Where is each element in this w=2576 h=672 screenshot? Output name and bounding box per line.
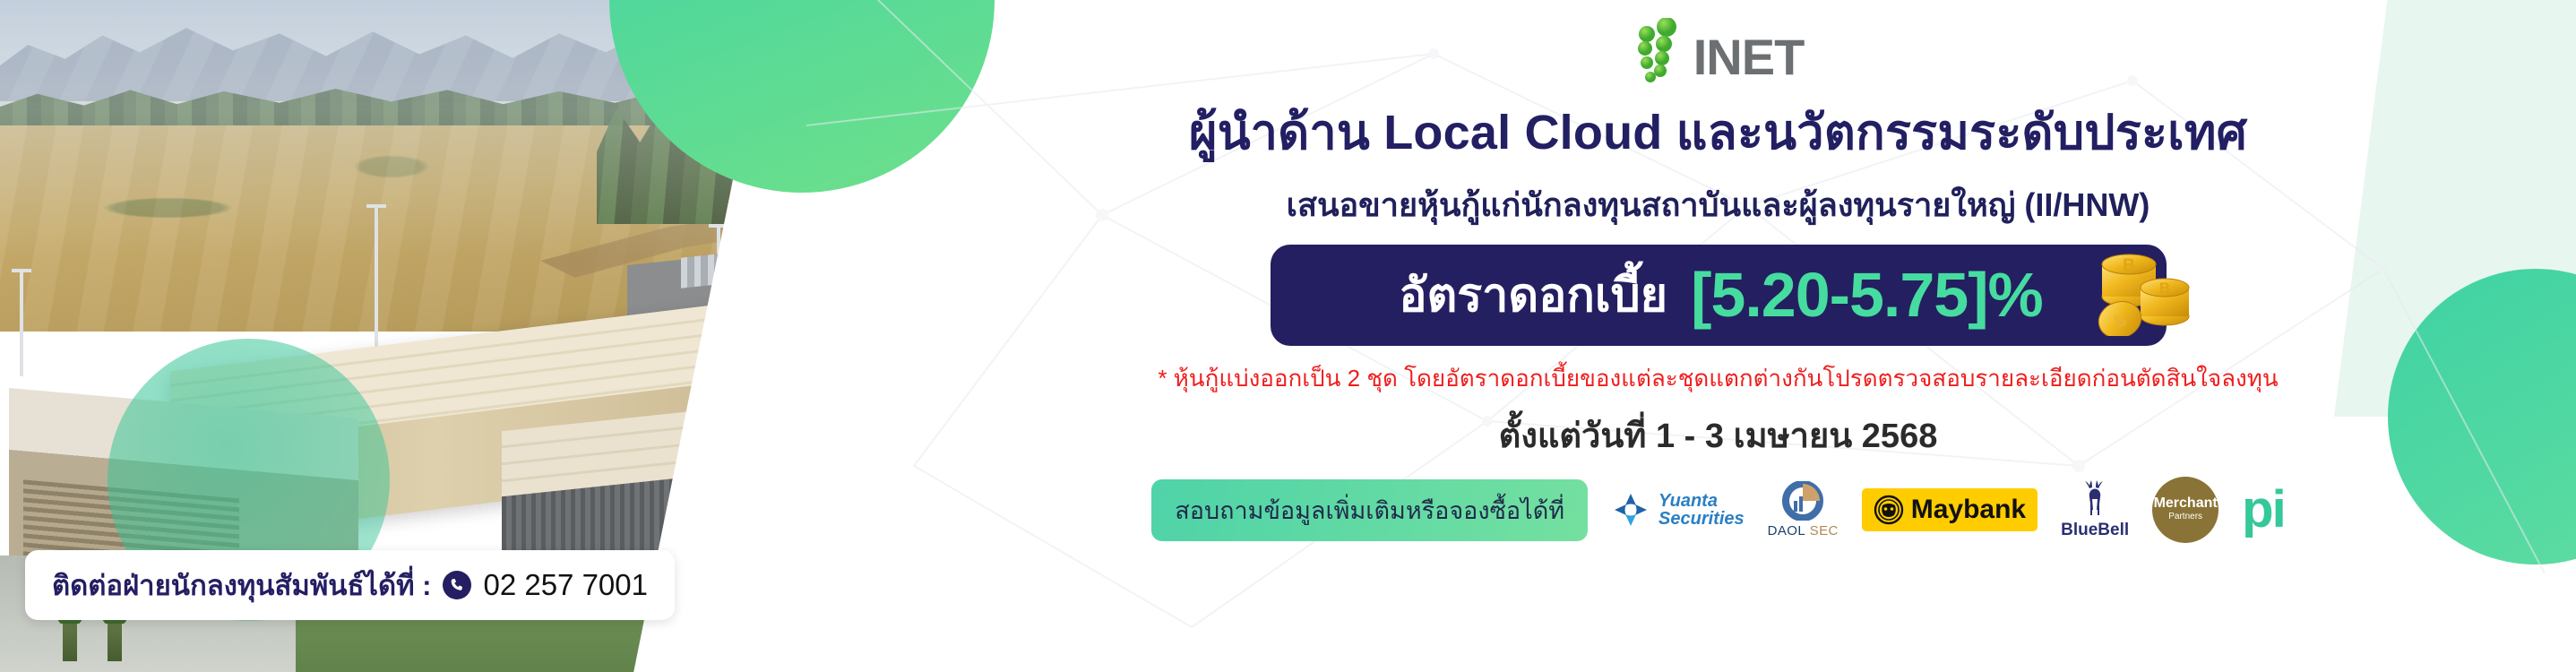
inet-dots-icon [1633, 18, 1684, 82]
partner-logo-bluebell[interactable]: BlueBell [2061, 479, 2129, 540]
daol-mark-icon [1781, 481, 1824, 521]
phone-icon [443, 571, 471, 599]
partner-logo-pi[interactable]: pi [2242, 489, 2285, 530]
contact-phone-number: 02 257 7001 [483, 568, 648, 602]
interest-rate-block: อัตราดอกเบี้ย [5.20-5.75]% B [1271, 245, 2167, 346]
gold-coins-icon: B B B [2089, 220, 2197, 336]
partner-logo-merchant[interactable]: Merchant Partners [2152, 477, 2218, 543]
cta-and-partners-row: สอบถามข้อมูลเพิ่มเติมหรือจองซื้อได้ที่ Y… [1151, 477, 2284, 543]
svg-text:B: B [2158, 280, 2169, 297]
maybank-tiger-icon [1874, 495, 1904, 525]
partner-logos: Yuanta Securities DAOL SEC [1611, 477, 2285, 543]
pi-label: pi [2242, 489, 2285, 530]
promo-banner: INET ผู้นำด้าน Local Cloud และนวัตกรรมระ… [0, 0, 2576, 672]
contact-cta-button[interactable]: สอบถามข้อมูลเพิ่มเติมหรือจองซื้อได้ที่ [1151, 479, 1588, 541]
contact-label: ติดต่อฝ่ายนักลงทุนสัมพันธ์ได้ที่ : [52, 563, 431, 607]
inet-logo: INET [1633, 16, 1805, 82]
partner-logo-maybank[interactable]: Maybank [1862, 488, 2038, 531]
bluebell-label: BlueBell [2061, 521, 2129, 540]
investor-contact-bar[interactable]: ติดต่อฝ่ายนักลงทุนสัมพันธ์ได้ที่ : 02 25… [25, 550, 675, 620]
headline: ผู้นำด้าน Local Cloud และนวัตกรรมระดับปร… [1189, 93, 2247, 170]
inet-logo-text: INET [1693, 32, 1805, 82]
photo-palm-tree [63, 613, 77, 661]
partner-logo-daol[interactable]: DAOL SEC [1768, 481, 1839, 538]
subheadline: เสนอขายหุ้นกู้แก่นักลงทุนสถาบันและผู้ลงท… [1287, 179, 2150, 230]
photo-utility-pole [375, 204, 378, 348]
svg-text:B: B [2123, 256, 2135, 275]
bluebell-deer-icon [2077, 479, 2113, 519]
yuanta-line1: Yuanta [1658, 492, 1745, 510]
merchant-line2: Partners [2168, 511, 2202, 523]
photo-palm-tree [108, 613, 122, 661]
interest-rate-box: อัตราดอกเบี้ย [5.20-5.75]% [1271, 245, 2167, 346]
partner-logo-yuanta[interactable]: Yuanta Securities [1611, 490, 1745, 530]
interest-rate-label: อัตราดอกเบี้ย [1399, 257, 1667, 332]
daol-light: SEC [1810, 523, 1839, 538]
content-column: INET ผู้นำด้าน Local Cloud และนวัตกรรมระ… [860, 0, 2576, 672]
offer-date-range: ตั้งแต่วันที่ 1 - 3 เมษายน 2568 [1499, 408, 1938, 462]
yuanta-mark-icon [1611, 490, 1650, 530]
maybank-label: Maybank [1911, 496, 2026, 523]
daol-bold: DAOL [1768, 523, 1805, 538]
photo-utility-pole [20, 269, 23, 376]
interest-rate-value: [5.20-5.75]% [1691, 259, 2043, 331]
merchant-line1: Merchant [2154, 496, 2218, 511]
yuanta-line2: Securities [1658, 510, 1745, 528]
disclaimer-note: * หุ้นกู้แบ่งออกเป็น 2 ชุด โดยอัตราดอกเบ… [1158, 360, 2278, 397]
